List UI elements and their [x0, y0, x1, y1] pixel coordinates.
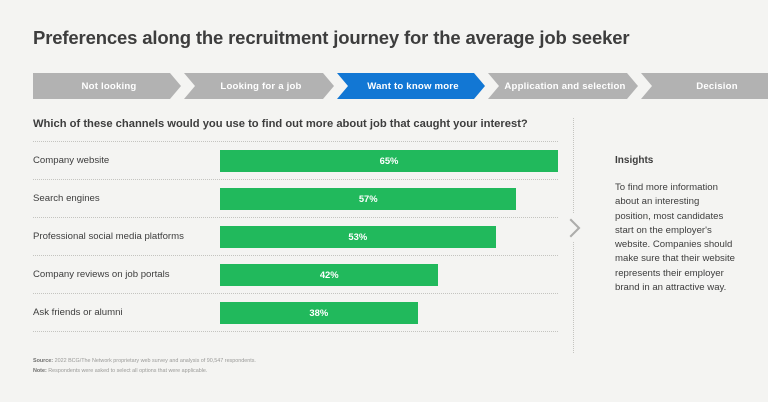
insights-body: To find more information about an intere…	[615, 181, 737, 295]
chart-row: Company reviews on job portals 42%	[33, 256, 558, 294]
chevron-right-icon	[566, 214, 584, 242]
stepper-step-label: Want to know more	[367, 81, 459, 92]
footnotes: Source: 2022 BCG/The Network proprietary…	[33, 357, 553, 376]
chart-bar-value: 42%	[320, 269, 339, 280]
chart-bar-value: 57%	[359, 193, 378, 204]
stepper-step-application-and-selection[interactable]: Application and selection	[488, 73, 638, 99]
chart-question: Which of these channels would you use to…	[33, 118, 528, 130]
chart-bar-value: 65%	[380, 155, 399, 166]
stepper-step-label: Application and selection	[504, 81, 625, 92]
stepper-step-label: Not looking	[82, 81, 137, 92]
footnote-source: Source: 2022 BCG/The Network proprietary…	[33, 357, 553, 367]
chart-bar: 53%	[220, 226, 496, 248]
stepper-step-label: Looking for a job	[220, 81, 301, 92]
chart-row-label: Company reviews on job portals	[33, 269, 220, 280]
chart-bar: 57%	[220, 188, 516, 210]
insights-title: Insights	[615, 155, 737, 166]
stepper-step-not-looking[interactable]: Not looking	[33, 73, 181, 99]
stepper-step-want-to-know-more[interactable]: Want to know more	[337, 73, 485, 99]
chart-bar-track: 65%	[220, 150, 558, 172]
chart-row: Ask friends or alumni 38%	[33, 294, 558, 332]
chart-row: Search engines 57%	[33, 180, 558, 218]
stepper-step-label: Decision	[696, 81, 738, 92]
slide-canvas: Preferences along the recruitment journe…	[0, 0, 768, 402]
stepper-step-decision[interactable]: Decision	[641, 73, 768, 99]
footnote-note-label: Note:	[33, 368, 47, 374]
chart-row-label: Search engines	[33, 193, 220, 204]
footnote-note: Note: Respondents were asked to select a…	[33, 367, 553, 377]
footnote-note-text: Respondents were asked to select all opt…	[47, 368, 208, 374]
chart-bar-track: 57%	[220, 188, 558, 210]
chart-row: Company website 65%	[33, 141, 558, 180]
page-title: Preferences along the recruitment journe…	[33, 27, 629, 49]
chart-bar-track: 38%	[220, 302, 558, 324]
chart-bar: 42%	[220, 264, 438, 286]
chart-row-label: Company website	[33, 155, 220, 166]
journey-stepper: Not looking Looking for a job Want to kn…	[33, 73, 735, 99]
chart-bar-value: 38%	[309, 307, 328, 318]
chart-row: Professional social media platforms 53%	[33, 218, 558, 256]
footnote-source-text: 2022 BCG/The Network proprietary web sur…	[53, 358, 256, 364]
chart-bar-track: 53%	[220, 226, 558, 248]
bar-chart: Company website 65% Search engines 57% P…	[33, 141, 558, 332]
chart-row-label: Ask friends or alumni	[33, 307, 220, 318]
chart-bar: 38%	[220, 302, 418, 324]
chart-row-label: Professional social media platforms	[33, 231, 220, 242]
chart-bar: 65%	[220, 150, 558, 172]
stepper-step-looking-for-a-job[interactable]: Looking for a job	[184, 73, 334, 99]
insights-panel: Insights To find more information about …	[615, 155, 737, 295]
chart-bar-value: 53%	[348, 231, 367, 242]
footnote-source-label: Source:	[33, 358, 53, 364]
chart-bar-track: 42%	[220, 264, 558, 286]
